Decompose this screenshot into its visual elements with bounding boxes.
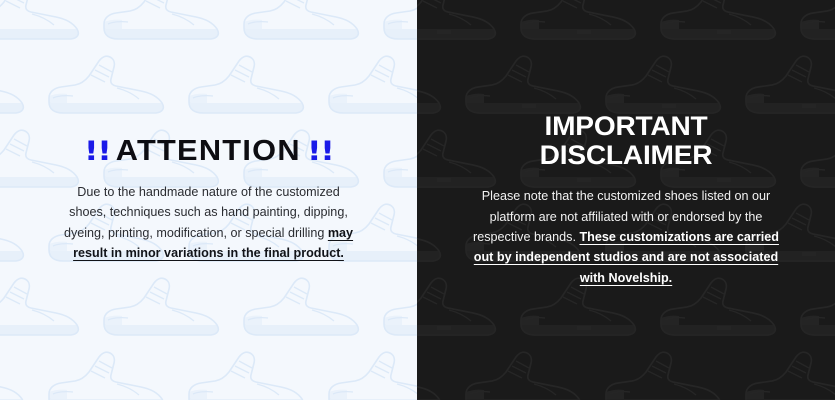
attention-body-plain: Due to the handmade nature of the custom… — [64, 185, 348, 240]
attention-heading: !! ATTENTION !! — [14, 137, 403, 166]
disclaimer-panel: IMPORTANT DISCLAIMER Please note that th… — [417, 0, 835, 400]
disclaimer-title-line-2: DISCLAIMER — [540, 140, 713, 170]
disclaimer-title-line-1: IMPORTANT — [545, 111, 708, 141]
promo-banner: !! ATTENTION !! Due to the handmade natu… — [0, 0, 835, 400]
attention-body: Due to the handmade nature of the custom… — [59, 182, 359, 264]
attention-content: !! ATTENTION !! Due to the handmade natu… — [0, 137, 417, 264]
disclaimer-title: IMPORTANT DISCLAIMER — [423, 112, 829, 169]
attention-title: ATTENTION — [116, 137, 301, 166]
disclaimer-body: Please note that the customized shoes li… — [466, 186, 786, 288]
double-exclamation-left-icon: !! — [84, 138, 111, 165]
double-exclamation-right-icon: !! — [307, 138, 334, 165]
disclaimer-content: IMPORTANT DISCLAIMER Please note that th… — [417, 112, 835, 288]
attention-panel: !! ATTENTION !! Due to the handmade natu… — [0, 0, 417, 400]
